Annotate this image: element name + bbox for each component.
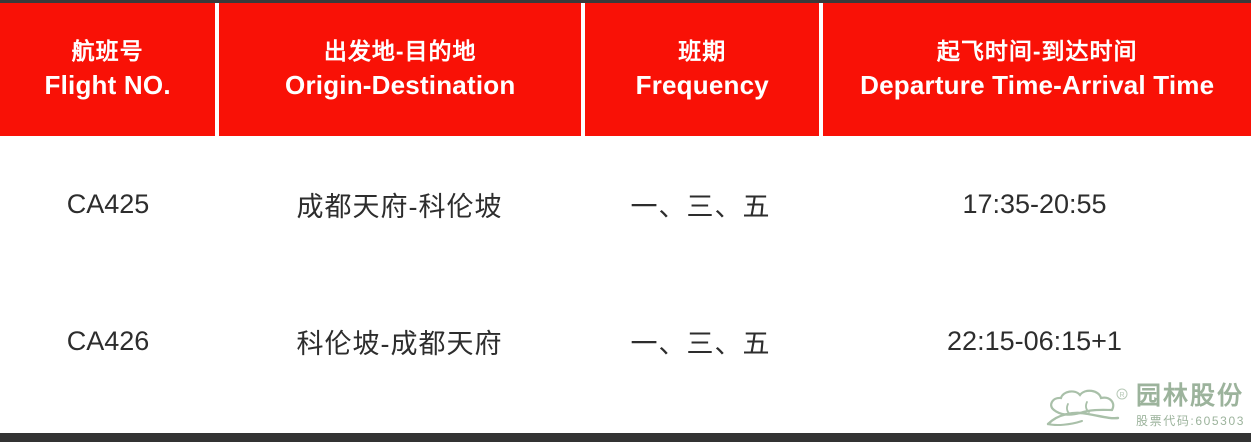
table-body: CA425 成都天府-科伦坡 一、三、五 17:35-20:55 CA426 科… (0, 136, 1251, 410)
column-header-flight-no-en: Flight NO. (45, 69, 171, 102)
tree-cloud-logo-icon: R (1044, 384, 1130, 428)
column-header-frequency: 班期 Frequency (585, 3, 819, 136)
flight-schedule-table: 航班号 Flight NO. 出发地-目的地 Origin-Destinatio… (0, 0, 1251, 442)
column-header-flight-no-cn: 航班号 (72, 37, 144, 66)
bottom-bar (0, 433, 1251, 442)
cell-origin-destination: 成都天府-科伦坡 (216, 185, 583, 224)
column-header-times-cn: 起飞时间-到达时间 (937, 37, 1138, 66)
watermark-stock-code: 股票代码:605303 (1136, 412, 1245, 429)
column-header-frequency-en: Frequency (636, 69, 769, 102)
cell-times: 17:35-20:55 (818, 189, 1251, 220)
column-header-times-en: Departure Time-Arrival Time (860, 69, 1214, 102)
column-header-origin-destination-cn: 出发地-目的地 (324, 37, 477, 66)
cell-flight-no: CA426 (0, 326, 216, 357)
column-header-frequency-cn: 班期 (678, 37, 726, 66)
cell-times: 22:15-06:15+1 (818, 326, 1251, 357)
cell-frequency: 一、三、五 (583, 185, 818, 224)
table-header-row: 航班号 Flight NO. 出发地-目的地 Origin-Destinatio… (0, 3, 1251, 136)
table-row: CA425 成都天府-科伦坡 一、三、五 17:35-20:55 (0, 136, 1251, 273)
column-header-origin-destination-en: Origin-Destination (285, 69, 515, 102)
cell-flight-no: CA425 (0, 189, 216, 220)
trademark-symbol: R (1119, 392, 1124, 399)
cell-frequency: 一、三、五 (583, 322, 818, 361)
column-header-flight-no: 航班号 Flight NO. (0, 3, 215, 136)
cell-origin-destination: 科伦坡-成都天府 (216, 322, 583, 361)
column-header-origin-destination: 出发地-目的地 Origin-Destination (219, 3, 581, 136)
watermark-text: 园林股份 股票代码:605303 (1136, 383, 1245, 429)
watermark: R 园林股份 股票代码:605303 (1044, 382, 1245, 430)
watermark-company-name: 园林股份 (1136, 383, 1245, 409)
column-header-times: 起飞时间-到达时间 Departure Time-Arrival Time (823, 3, 1251, 136)
